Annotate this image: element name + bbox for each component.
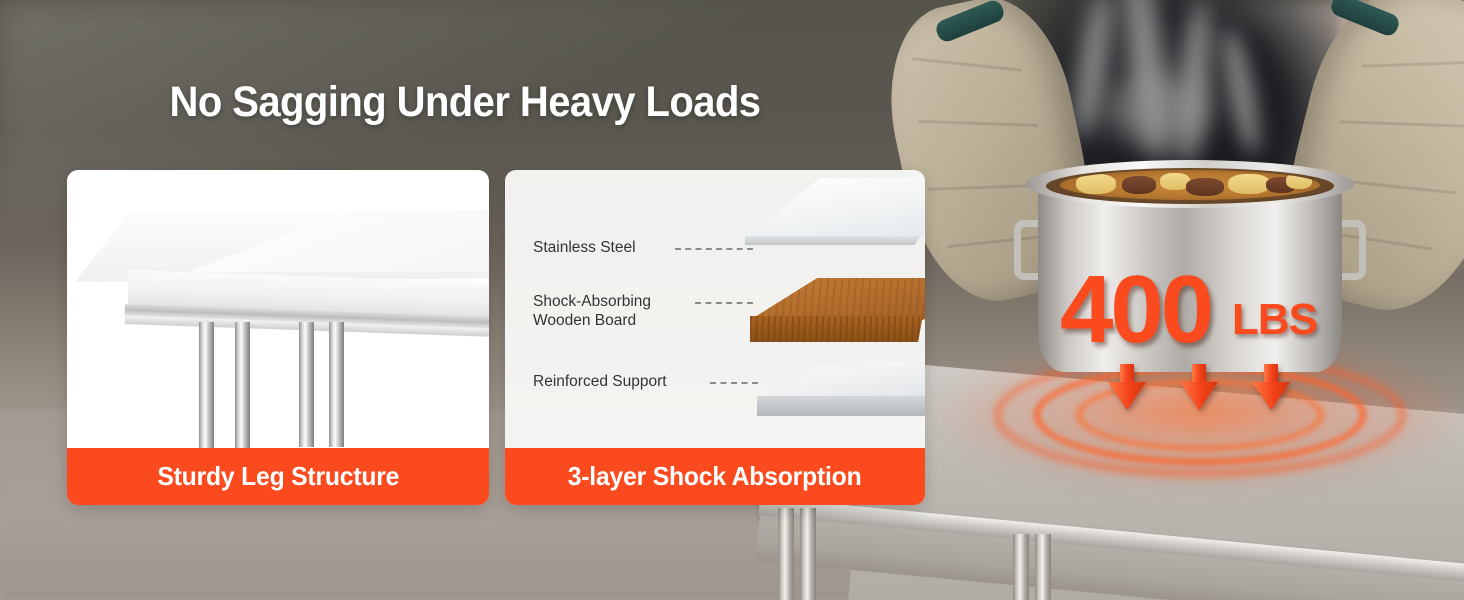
layer-wooden-board [750, 278, 925, 320]
illustrated-table-leg [299, 322, 314, 447]
downward-arrows [1108, 364, 1298, 412]
arrow-down-icon [1108, 364, 1146, 410]
table-corner-illustration [67, 170, 489, 448]
illustrated-table-leg [329, 322, 344, 447]
table-leg [778, 508, 794, 600]
layer-reinforced-support-edge [757, 396, 925, 416]
arrow-down-icon [1252, 364, 1290, 410]
layer-label-reinforced-support: Reinforced Support [533, 372, 667, 391]
feature-card-shock-absorption[interactable]: Stainless Steel Shock-Absorbing Wooden B… [505, 170, 925, 505]
leader-line-wooden-board [695, 302, 753, 304]
feature-card-caption-bar: Sturdy Leg Structure [67, 448, 489, 505]
load-callout: 400 LBS [1060, 262, 1360, 412]
table-leg [800, 508, 816, 600]
layer-stainless-steel [745, 178, 925, 238]
page-title: No Sagging Under Heavy Loads [33, 78, 898, 127]
three-layer-diagram: Stainless Steel Shock-Absorbing Wooden B… [505, 170, 925, 448]
layer-label-wooden-board-line2: Wooden Board [533, 311, 636, 330]
promo-banner: No Sagging Under Heavy Loads Sturdy Leg … [0, 0, 1464, 600]
beef-stew [1060, 170, 1320, 200]
feature-card-caption: 3-layer Shock Absorption [568, 461, 862, 492]
feature-card-caption: Sturdy Leg Structure [157, 461, 399, 492]
arrow-down-icon [1180, 364, 1218, 410]
layer-reinforced-support [757, 366, 925, 400]
layer-stainless-steel-edge [745, 236, 925, 245]
illustrated-table-leg [199, 322, 214, 448]
layer-wooden-board-edge [750, 316, 925, 342]
table-leg [1013, 534, 1029, 600]
table-leg [1035, 534, 1051, 600]
load-unit: LBS [1232, 298, 1317, 342]
feature-card-sturdy-leg[interactable]: Sturdy Leg Structure [67, 170, 489, 505]
leader-line-stainless-steel [675, 248, 753, 250]
illustrated-table-leg [235, 322, 250, 448]
feature-card-caption-bar: 3-layer Shock Absorption [505, 448, 925, 505]
layer-label-stainless-steel: Stainless Steel [533, 238, 636, 257]
layer-label-wooden-board-line1: Shock-Absorbing [533, 292, 651, 311]
leader-line-reinforced-support [710, 382, 758, 384]
load-value: 400 [1060, 262, 1211, 358]
